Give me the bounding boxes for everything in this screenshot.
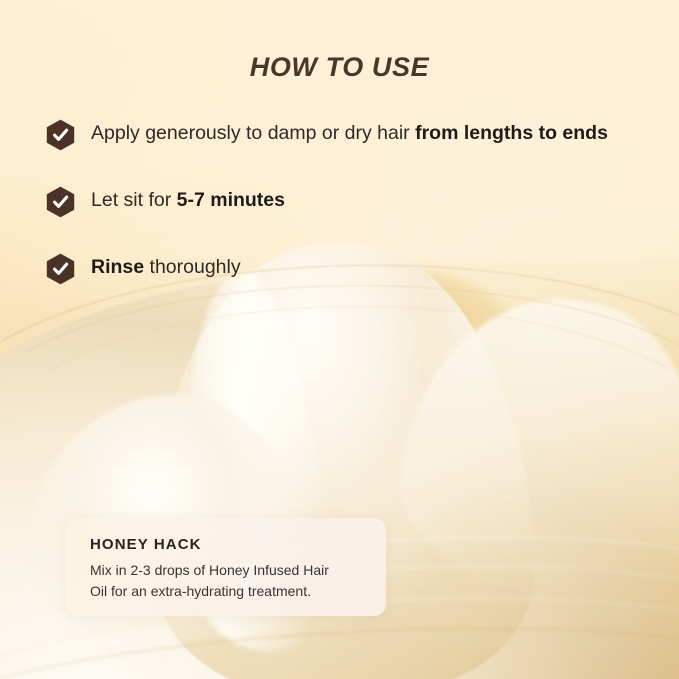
honey-hack-line-2: Oil for an extra-hydrating treatment. — [90, 581, 366, 602]
honey-hack-title: HONEY HACK — [90, 536, 366, 553]
step-text-regular-tail: thoroughly — [144, 256, 240, 278]
list-item: Let sit for 5-7 minutes — [46, 185, 626, 218]
step-text-regular: Let sit for — [91, 189, 177, 211]
infographic-canvas: HOW TO USE Apply generously to damp or d… — [0, 0, 679, 679]
hexagon-check-icon — [46, 253, 75, 285]
step-text: Apply generously to damp or dry hair fro… — [91, 118, 608, 148]
step-text: Rinse thoroughly — [91, 252, 241, 282]
step-text-regular: Apply generously to damp or dry hair — [91, 122, 415, 144]
step-text-emphasis: from lengths to ends — [415, 122, 608, 144]
step-text: Let sit for 5-7 minutes — [91, 185, 285, 215]
list-item: Apply generously to damp or dry hair fro… — [46, 118, 626, 151]
step-text-emphasis: Rinse — [91, 256, 144, 278]
hexagon-check-icon — [46, 186, 75, 218]
step-text-emphasis: 5-7 minutes — [177, 189, 285, 211]
honey-hack-line-1: Mix in 2-3 drops of Honey Infused Hair — [90, 560, 366, 581]
honey-hack-callout-card: HONEY HACK Mix in 2-3 drops of Honey Inf… — [66, 518, 386, 616]
list-item: Rinse thoroughly — [46, 252, 626, 285]
content-layer: HOW TO USE Apply generously to damp or d… — [0, 0, 679, 679]
hexagon-check-icon — [46, 119, 75, 151]
page-title: HOW TO USE — [0, 52, 679, 83]
steps-list: Apply generously to damp or dry hair fro… — [46, 118, 626, 285]
